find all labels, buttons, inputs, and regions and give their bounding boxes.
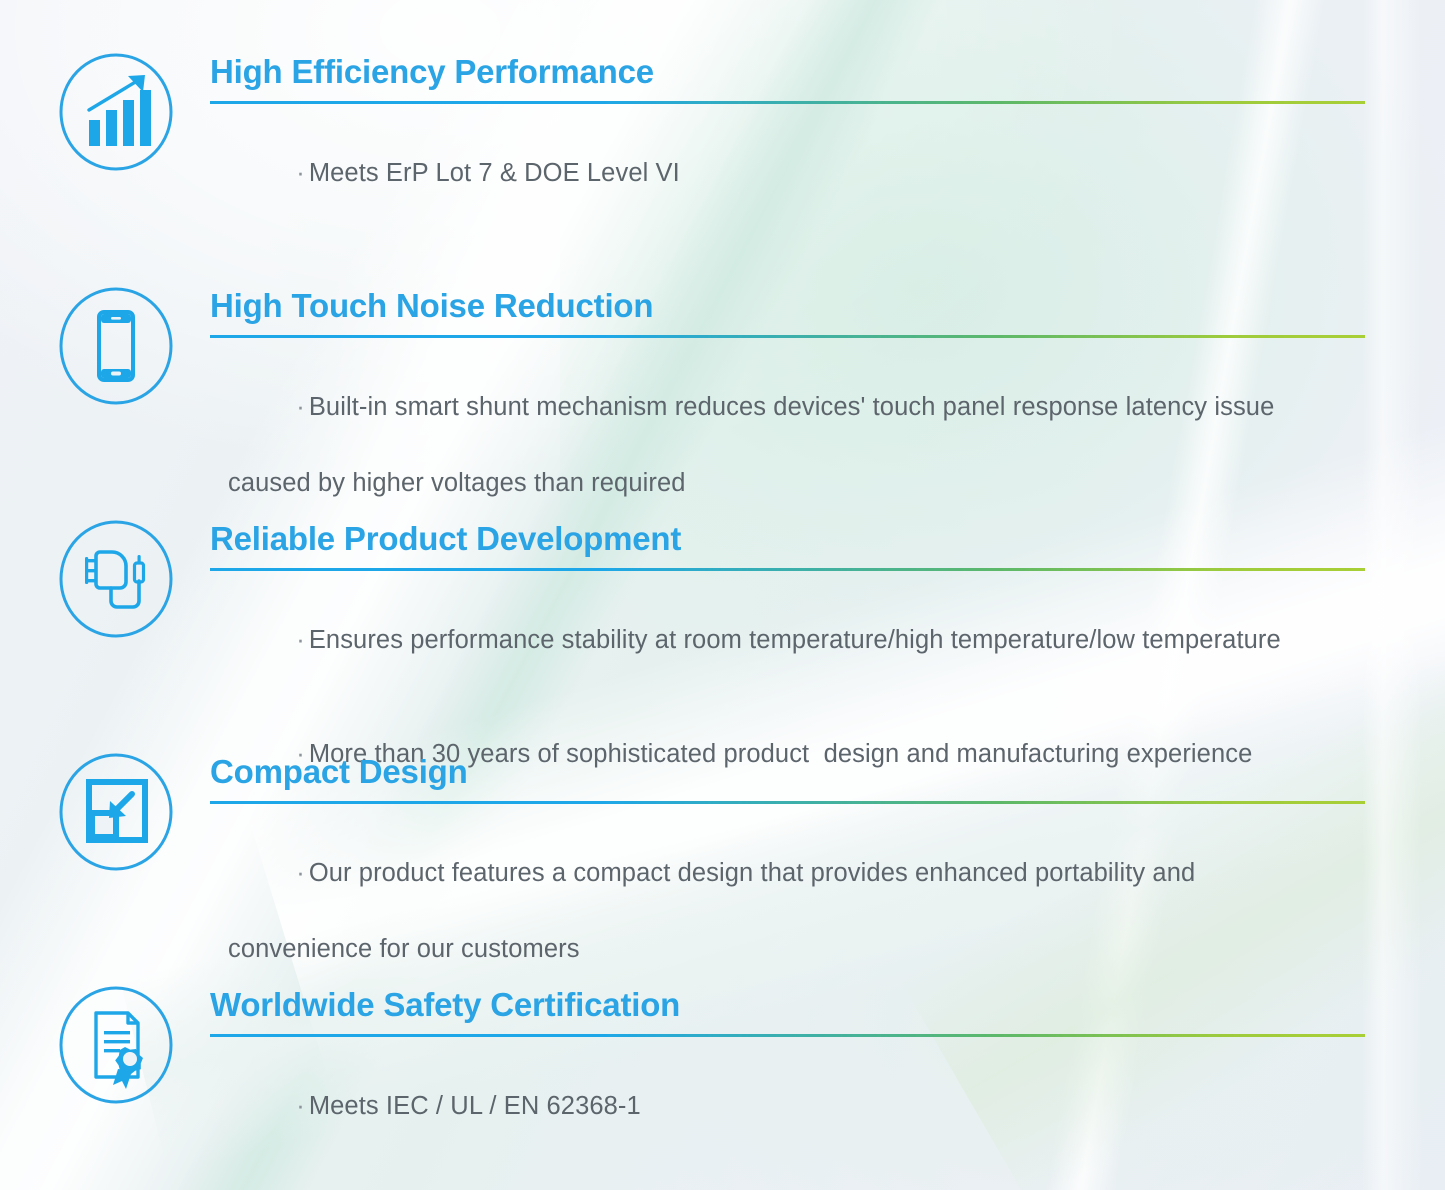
feature-description-line: ·Meets ErP Lot 7 & DOE Level VI: [210, 116, 1370, 230]
feature-description-continuation: caused by higher voltages than required: [210, 464, 1370, 502]
bar-chart-growth-icon: [56, 52, 176, 172]
feature-description-text: Ensures performance stability at room te…: [309, 626, 1281, 654]
feature-description-text: Meets IEC / UL / EN 62368-1: [309, 1092, 641, 1120]
feature-divider: [210, 568, 1365, 571]
feature-icon-container: [56, 286, 176, 406]
feature-divider: [210, 101, 1365, 104]
feature-text-block: Worldwide Safety Certification ·Meets IE…: [210, 985, 1370, 1163]
compact-resize-icon: [56, 752, 176, 872]
feature-icon-container: [56, 52, 176, 172]
feature-description-list: ·Meets ErP Lot 7 & DOE Level VI: [210, 116, 1370, 230]
feature-icon-container: [56, 519, 176, 639]
feature-description-line: ·Meets IEC / UL / EN 62368-1: [210, 1049, 1370, 1163]
feature-title: Worldwide Safety Certification: [210, 985, 1370, 1025]
power-adapter-icon: [56, 519, 176, 639]
feature-description-line: ·Ensures performance stability at room t…: [210, 583, 1370, 697]
feature-highlights-page: High Efficiency Performance ·Meets ErP L…: [0, 0, 1445, 1190]
feature-icon-container: [56, 752, 176, 872]
bullet-glyph: ·: [296, 393, 305, 421]
feature-title: Reliable Product Development: [210, 519, 1370, 559]
bullet-glyph: ·: [296, 159, 305, 187]
bullet-glyph: ·: [296, 626, 305, 654]
feature-description-text: Our product features a compact design th…: [309, 859, 1195, 887]
background-vertical-seam: [1362, 0, 1422, 1190]
bullet-glyph: ·: [296, 859, 305, 887]
bullet-glyph: ·: [296, 1092, 305, 1120]
feature-description-continuation: convenience for our customers: [210, 930, 1370, 968]
smartphone-icon: [56, 286, 176, 406]
feature-title: High Touch Noise Reduction: [210, 286, 1370, 326]
feature-icon-container: [56, 985, 176, 1105]
feature-divider: [210, 335, 1365, 338]
feature-title: Compact Design: [210, 752, 1370, 792]
feature-description-list: ·Meets IEC / UL / EN 62368-1: [210, 1049, 1370, 1163]
feature-divider: [210, 1034, 1365, 1037]
feature-text-block: High Efficiency Performance ·Meets ErP L…: [210, 52, 1370, 230]
feature-description-text: Meets ErP Lot 7 & DOE Level VI: [309, 159, 680, 187]
feature-description-text: Built-in smart shunt mechanism reduces d…: [309, 393, 1275, 421]
feature-divider: [210, 801, 1365, 804]
certificate-award-icon: [56, 985, 176, 1105]
feature-title: High Efficiency Performance: [210, 52, 1370, 92]
